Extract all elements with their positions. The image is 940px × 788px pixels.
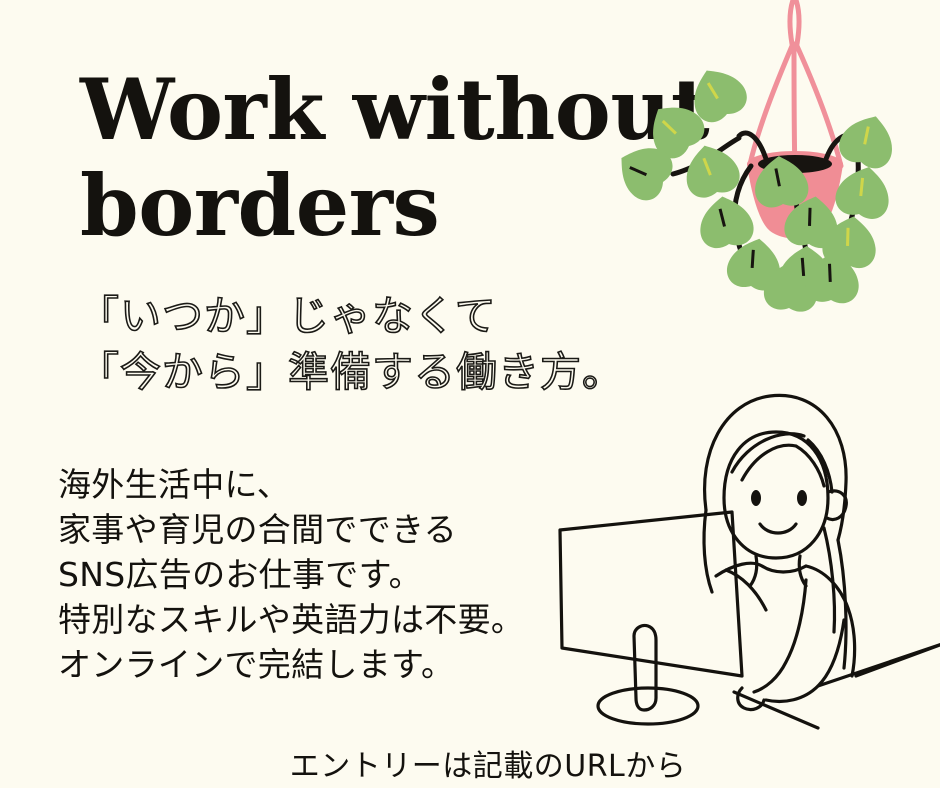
hanging-planter-icon <box>655 0 940 326</box>
poster-canvas: Work without borders 「いつか」じゃなくて 「今から」準備す… <box>0 0 940 788</box>
body-line-1: 海外生活中に、 <box>58 462 578 507</box>
body-line-3: SNS広告のお仕事です。 <box>58 552 578 597</box>
headline-line-2: borders <box>80 158 680 254</box>
headline-line-1: Work without <box>80 62 680 158</box>
headline: Work without borders <box>80 62 680 254</box>
body-line-5: オンラインで完結します。 <box>58 642 578 687</box>
subtitle-line-1: 「いつか」じゃなくて <box>78 288 718 344</box>
body-copy: 海外生活中に、 家事や育児の合間でできる SNS広告のお仕事です。 特別なスキル… <box>58 462 578 687</box>
woman-at-computer-icon <box>556 380 940 728</box>
body-line-2: 家事や育児の合間でできる <box>58 507 578 552</box>
body-line-4: 特別なスキルや英語力は不要。 <box>58 597 578 642</box>
footer-note: エントリーは記載のURLから <box>0 748 940 786</box>
